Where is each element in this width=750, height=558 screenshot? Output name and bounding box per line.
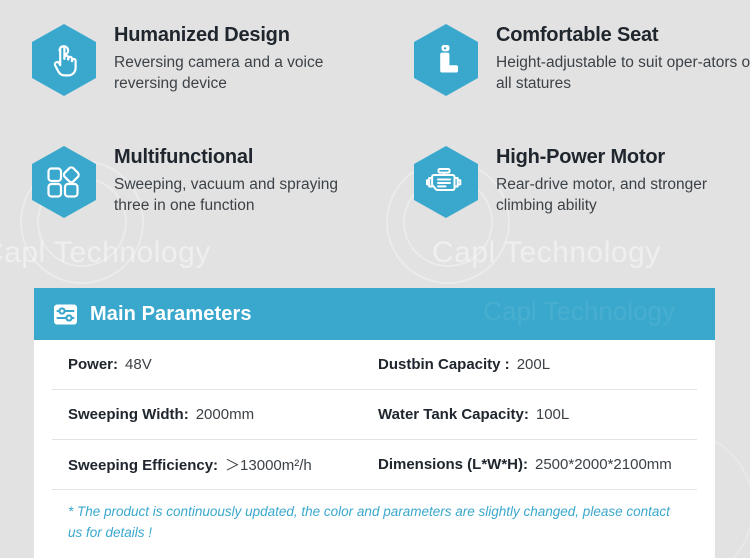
hand-touch-icon [30, 22, 98, 98]
param-label: Sweeping Efficiency: [68, 457, 218, 474]
feature-description: Height-adjustable to suit oper-ators of … [496, 52, 750, 95]
feature-card-high-power-motor: High-Power Motor Rear-drive motor, and s… [412, 144, 750, 266]
feature-description: Sweeping, vacuum and spraying three in o… [114, 174, 376, 217]
panel-title: Main Parameters [90, 303, 252, 326]
feature-title: Comfortable Seat [496, 24, 750, 46]
feature-title: Humanized Design [114, 24, 376, 46]
hexagon-badge [30, 144, 98, 220]
feature-title: Multifunctional [114, 146, 376, 168]
engine-motor-icon [412, 144, 480, 220]
panel-header: Capl Technology Main Parameters [34, 288, 715, 340]
param-value: 100L [536, 406, 569, 423]
feature-grid: Humanized Design Reversing camera and a … [0, 0, 750, 268]
param-label: Sweeping Width: [68, 406, 189, 423]
feature-title: High-Power Motor [496, 146, 750, 168]
header-watermark-text: Capl Technology [483, 296, 675, 327]
param-label: Power: [68, 356, 118, 373]
param-label: Water Tank Capacity: [378, 406, 529, 423]
param-cell-sweeping-width: Sweeping Width: 2000mm [52, 406, 378, 423]
disclaimer-note: * The product is continuously updated, t… [34, 490, 715, 558]
param-label: Dimensions (L*W*H): [378, 456, 528, 473]
hexagon-badge [412, 22, 480, 98]
param-cell-water-tank-capacity: Water Tank Capacity: 100L [378, 406, 697, 423]
table-row: Sweeping Efficiency: ＞13000m²/h Dimensio… [52, 440, 697, 490]
feature-text: Humanized Design Reversing camera and a … [114, 22, 376, 95]
param-cell-power: Power: 48V [52, 356, 378, 373]
main-parameters-panel: Capl Technology Main Parameters Power: 4… [34, 288, 715, 558]
param-value: 200L [517, 356, 550, 373]
multifunction-shapes-icon [30, 144, 98, 220]
param-value: 2000mm [196, 406, 254, 423]
feature-card-multifunctional: Multifunctional Sweeping, vacuum and spr… [30, 144, 390, 266]
param-cell-sweeping-efficiency: Sweeping Efficiency: ＞13000m²/h [52, 454, 378, 475]
feature-card-comfortable-seat: Comfortable Seat Height-adjustable to su… [412, 22, 750, 144]
feature-text: Multifunctional Sweeping, vacuum and spr… [114, 144, 376, 217]
sliders-settings-icon [52, 301, 78, 327]
table-row: Power: 48V Dustbin Capacity : 200L [52, 340, 697, 390]
param-value: 2500*2000*2100mm [535, 456, 672, 473]
param-value: ＞13000m²/h [225, 454, 312, 475]
feature-card-humanized-design: Humanized Design Reversing camera and a … [30, 22, 390, 144]
feature-description: Rear-drive motor, and stronger climbing … [496, 174, 750, 217]
feature-description: Reversing camera and a voice reversing d… [114, 52, 376, 95]
param-value: 48V [125, 356, 152, 373]
param-cell-dustbin-capacity: Dustbin Capacity : 200L [378, 356, 697, 373]
feature-text: Comfortable Seat Height-adjustable to su… [496, 22, 750, 95]
table-row: Sweeping Width: 2000mm Water Tank Capaci… [52, 390, 697, 440]
panel-body: Power: 48V Dustbin Capacity : 200L Sweep… [34, 340, 715, 558]
hexagon-badge [30, 22, 98, 98]
seat-icon [412, 22, 480, 98]
param-cell-dimensions: Dimensions (L*W*H): 2500*2000*2100mm [378, 456, 697, 473]
feature-text: High-Power Motor Rear-drive motor, and s… [496, 144, 750, 217]
hexagon-badge [412, 144, 480, 220]
param-label: Dustbin Capacity : [378, 356, 510, 373]
